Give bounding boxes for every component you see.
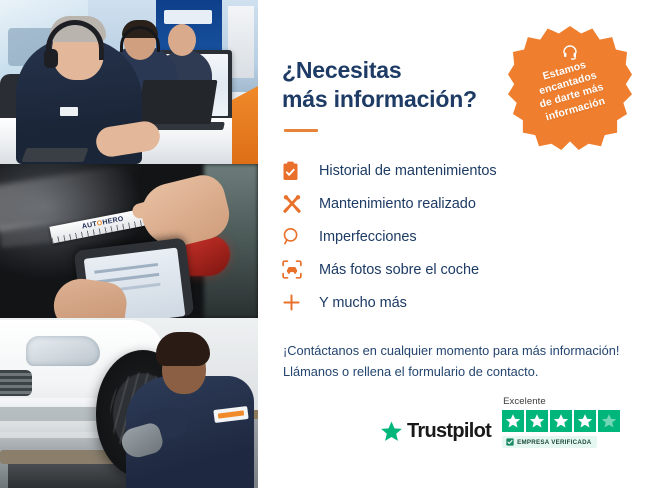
- car-inspection-ruler-photo: AUTOHERO: [0, 164, 258, 318]
- feature-label: Mantenimiento realizado: [319, 196, 476, 212]
- verified-business-badge: EMPRESA VERIFICADA: [502, 436, 596, 448]
- trustpilot-widget[interactable]: Trustpilot Excelente: [380, 396, 620, 448]
- check-square-icon: [506, 438, 514, 446]
- feature-item-imperfections: Imperfecciones: [282, 220, 582, 253]
- feature-list: Historial de mantenimientos Mantenimient…: [282, 154, 582, 319]
- rating-label: Excelente: [503, 396, 546, 407]
- plus-icon: [282, 292, 308, 314]
- trustpilot-wordmark: Trustpilot: [407, 420, 491, 443]
- trustpilot-rating: Excelente: [502, 396, 620, 448]
- page-title: ¿Necesitas más información?: [282, 56, 514, 113]
- headset-icon: [560, 43, 580, 61]
- clipboard-check-icon: [282, 160, 308, 182]
- star-rating: [502, 410, 620, 432]
- star-1: [502, 410, 524, 432]
- star-3: [550, 410, 572, 432]
- mechanic-hair: [156, 332, 210, 366]
- headline-line-1: ¿Necesitas: [282, 56, 514, 85]
- badge-content: Estamos encantados de darte más informac…: [508, 26, 632, 150]
- accent-divider: [284, 129, 318, 132]
- mechanic-wheel-photo: [0, 318, 258, 488]
- badge-text: Estamos encantados de darte más informac…: [518, 52, 621, 128]
- star-5: [598, 410, 620, 432]
- trustpilot-star-icon: [380, 420, 403, 443]
- support-badge: Estamos encantados de darte más informac…: [508, 26, 632, 150]
- call-center-agents-photo: [0, 0, 258, 164]
- trustpilot-logo[interactable]: Trustpilot: [380, 420, 491, 448]
- laptop-screen: [137, 80, 218, 124]
- car-headlight: [26, 336, 100, 366]
- content-panel: ¿Necesitas más información? Estamos enca…: [258, 0, 650, 488]
- feature-item-maintenance-history: Historial de mantenimientos: [282, 154, 582, 187]
- main-agent-badge: [60, 107, 78, 116]
- feature-item-maintenance-done: Mantenimiento realizado: [282, 187, 582, 220]
- info-poster: AUTOHERO: [0, 0, 650, 488]
- car-scan-icon: [282, 259, 308, 281]
- feature-item-much-more: Y mucho más: [282, 286, 582, 319]
- paragraph-line-2: Llámanos o rellena el formulario de cont…: [283, 362, 633, 383]
- feature-item-more-photos: Más fotos sobre el coche: [282, 253, 582, 286]
- headline-line-2: más información?: [282, 85, 514, 114]
- car-lift-base: [8, 464, 128, 488]
- feature-label: Y mucho más: [319, 295, 407, 311]
- verified-label: EMPRESA VERIFICADA: [517, 439, 591, 446]
- star-2: [526, 410, 548, 432]
- magnifier-icon: [282, 226, 308, 248]
- contact-paragraph: ¡Contáctanos en cualquier momento para m…: [283, 341, 633, 382]
- desk-tablet: [21, 148, 88, 162]
- paragraph-line-1: ¡Contáctanos en cualquier momento para m…: [283, 341, 633, 362]
- photo-collage: AUTOHERO: [0, 0, 258, 488]
- feature-label: Historial de mantenimientos: [319, 163, 497, 179]
- car-grille: [0, 370, 32, 396]
- feature-label: Imperfecciones: [319, 229, 417, 245]
- feature-label: Más fotos sobre el coche: [319, 262, 479, 278]
- star-4: [574, 410, 596, 432]
- tools-cross-icon: [282, 193, 308, 215]
- main-agent-earcup: [44, 49, 58, 68]
- background-agent-head: [168, 24, 196, 56]
